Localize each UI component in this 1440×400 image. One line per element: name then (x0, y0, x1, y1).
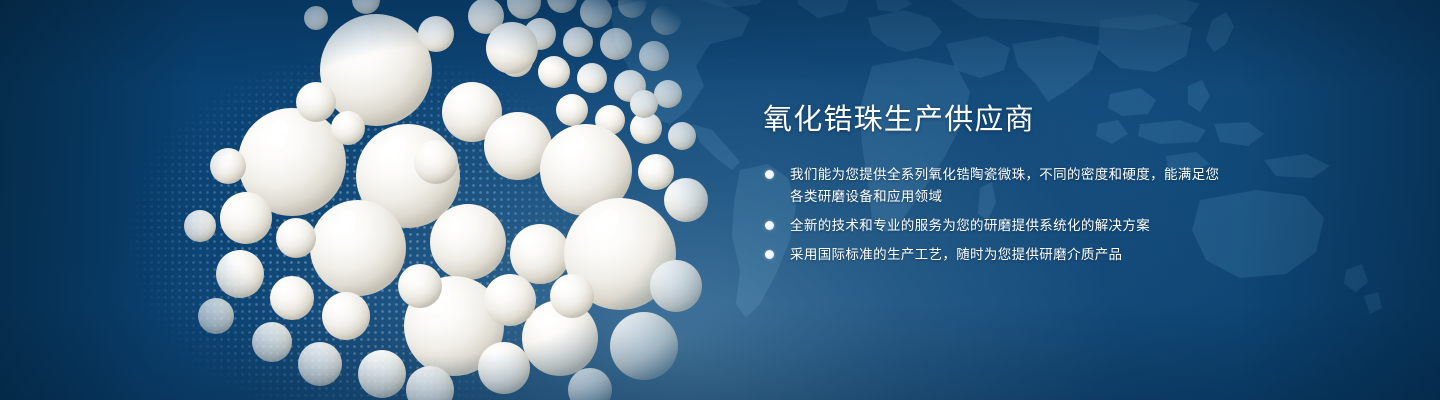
filled-circle-bullet-icon (765, 170, 774, 179)
list-item-label: 采用国际标准的生产工艺，随时为您提供研磨介质产品 (790, 247, 1122, 262)
list-item-label: 我们能为您提供全系列氧化锆陶瓷微珠，不同的密度和硬度，能满足您各类研磨设备和应用… (790, 167, 1219, 204)
feature-list: 我们能为您提供全系列氧化锆陶瓷微珠，不同的密度和硬度，能满足您各类研磨设备和应用… (763, 164, 1233, 266)
filled-circle-bullet-icon (765, 250, 774, 259)
list-item: 采用国际标准的生产工艺，随时为您提供研磨介质产品 (763, 244, 1233, 266)
product-image-zirconia-beads (120, 0, 740, 400)
page-title: 氧化锆珠生产供应商 (763, 104, 1233, 138)
list-item: 全新的技术和专业的服务为您的研磨提供系统化的解决方案 (763, 215, 1233, 237)
hero-banner: 氧化锆珠生产供应商 我们能为您提供全系列氧化锆陶瓷微珠，不同的密度和硬度，能满足… (0, 0, 1440, 400)
list-item-label: 全新的技术和专业的服务为您的研磨提供系统化的解决方案 (790, 218, 1150, 233)
filled-circle-bullet-icon (765, 221, 774, 230)
list-item: 我们能为您提供全系列氧化锆陶瓷微珠，不同的密度和硬度，能满足您各类研磨设备和应用… (763, 164, 1233, 208)
banner-copy-block: 氧化锆珠生产供应商 我们能为您提供全系列氧化锆陶瓷微珠，不同的密度和硬度，能满足… (763, 104, 1233, 266)
